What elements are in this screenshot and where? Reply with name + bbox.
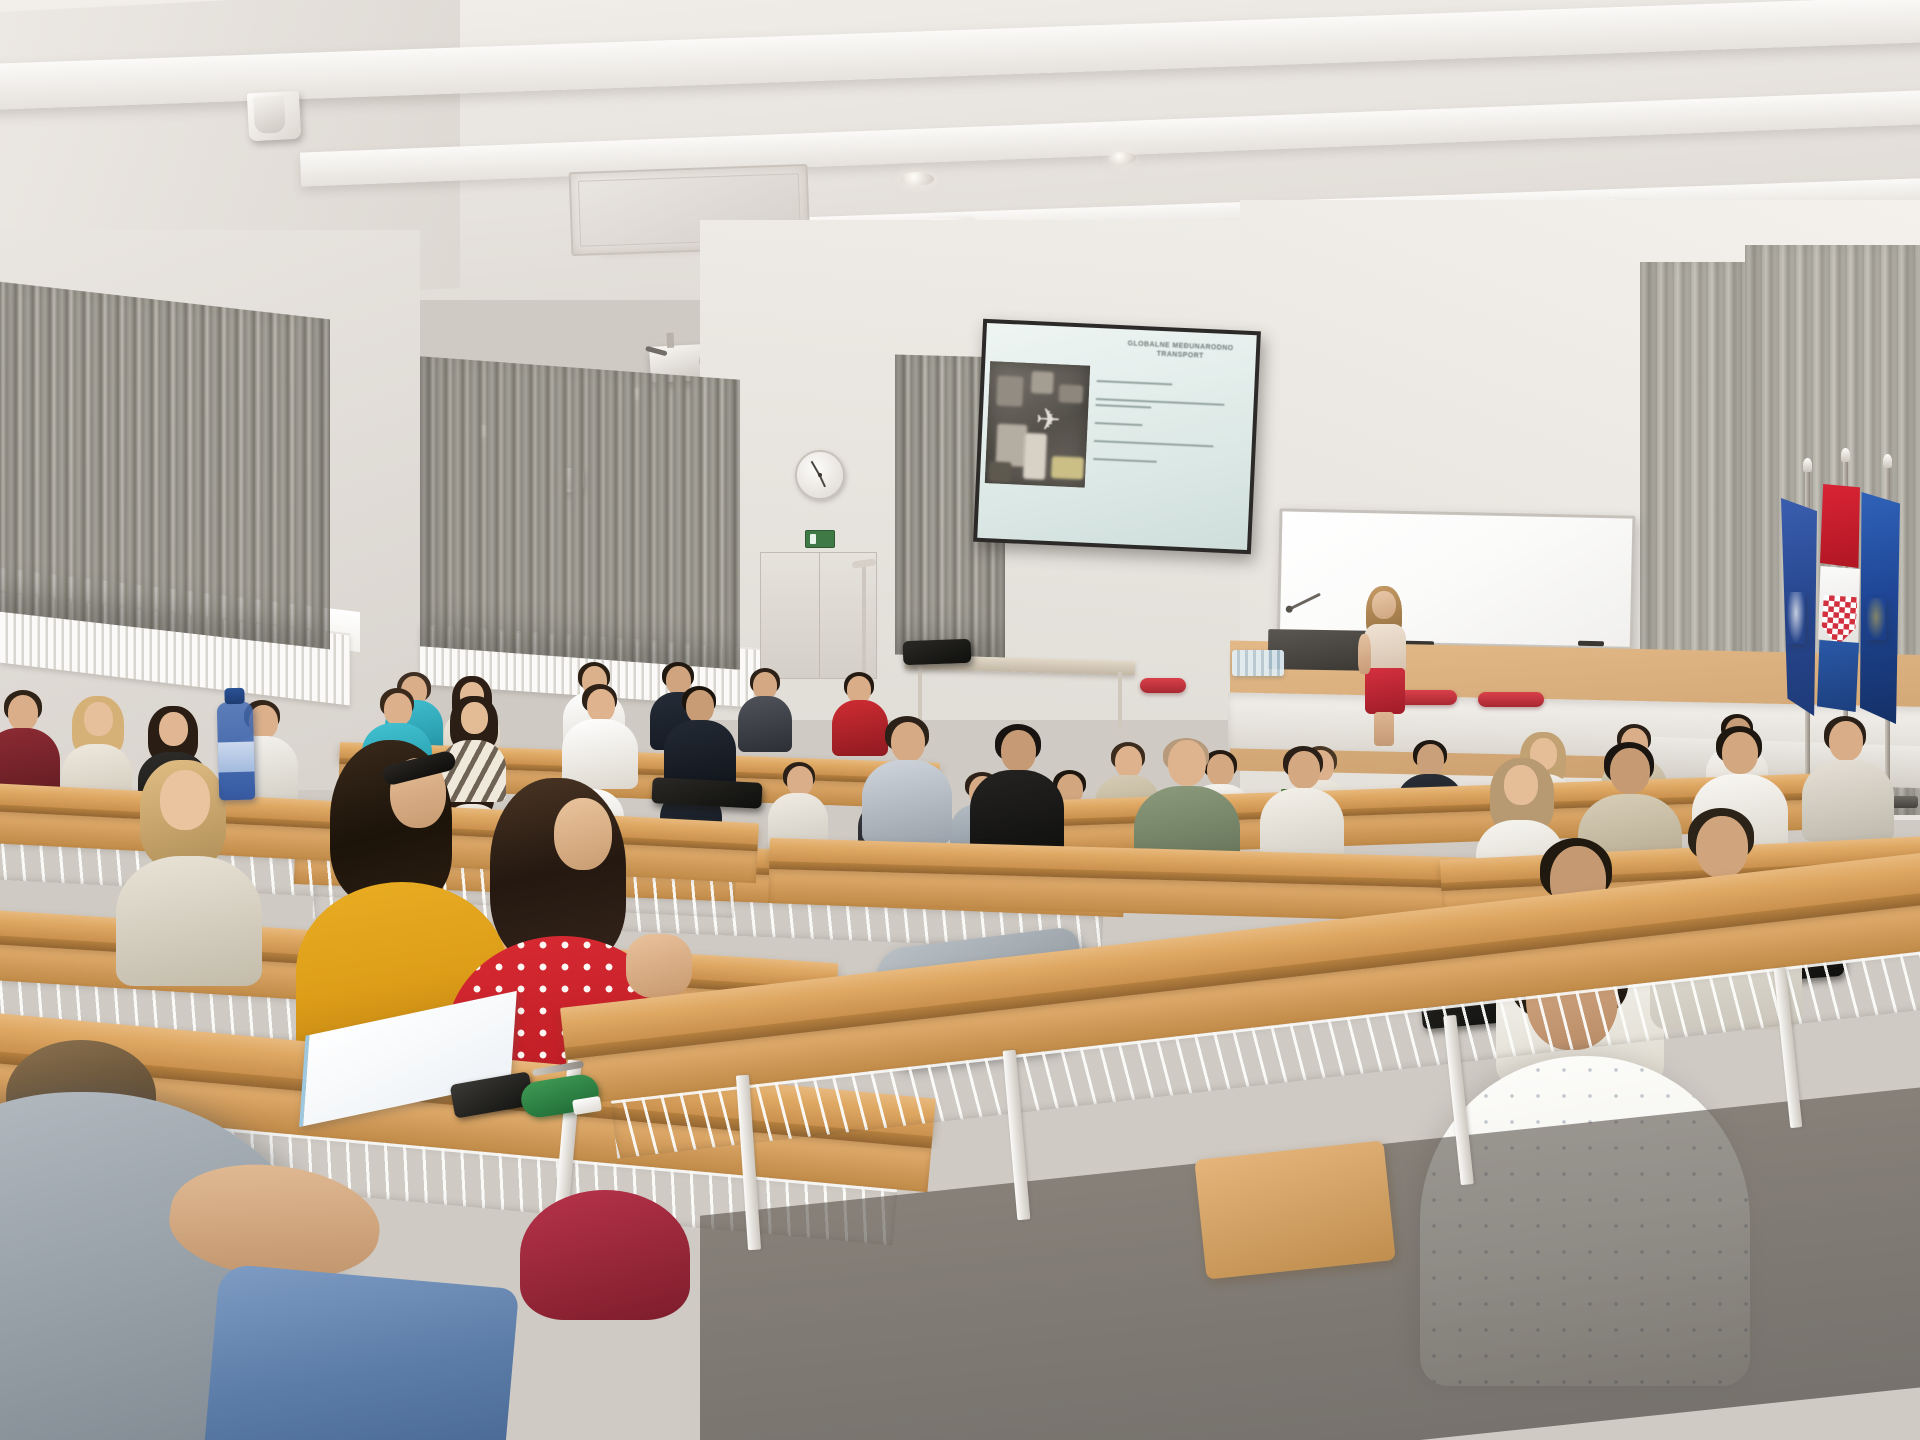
slide-photo: ✈ — [985, 361, 1090, 487]
wall-speaker — [247, 91, 301, 142]
arm — [626, 934, 692, 998]
presenter-head — [1372, 591, 1396, 619]
window-curtain — [420, 356, 740, 669]
croatian-flag — [1817, 640, 1859, 712]
slide-bullets — [1092, 380, 1236, 482]
laptop-bag — [903, 639, 972, 665]
slide-title: GLOBALNE MEĐUNARODNO TRANSPORT — [1115, 339, 1245, 364]
institutional-flag-emblem — [1787, 592, 1805, 644]
whiteboard-marker — [1578, 641, 1604, 647]
water-bottle — [217, 702, 256, 801]
wall-clock — [795, 450, 845, 500]
bottle-stack — [1232, 650, 1284, 676]
projection-screen: GLOBALNE MEĐUNARODNO TRANSPORT ✈ — [973, 319, 1261, 554]
window-curtain — [0, 281, 330, 650]
ceiling-downlight — [900, 172, 934, 186]
presenter-skirt — [1365, 668, 1405, 714]
presenter-arm — [1358, 634, 1371, 674]
chair-back — [1194, 1140, 1396, 1279]
back-wall-cabinet — [760, 552, 877, 679]
emergency-exit-sign — [805, 530, 835, 548]
lecture-hall-photo: GLOBALNE MEĐUNARODNO TRANSPORT ✈ — [0, 0, 1920, 1440]
seat-cushion — [1140, 678, 1186, 693]
croatian-flag — [1820, 484, 1860, 568]
presenter-legs — [1374, 712, 1394, 746]
table-leg — [918, 666, 922, 724]
eu-flag-stars — [1866, 598, 1886, 640]
table-leg — [1118, 672, 1122, 730]
jeans — [201, 1263, 519, 1440]
coat-stand — [862, 566, 866, 681]
seat-cushion — [1478, 692, 1544, 707]
ceiling-downlight — [1108, 152, 1136, 164]
